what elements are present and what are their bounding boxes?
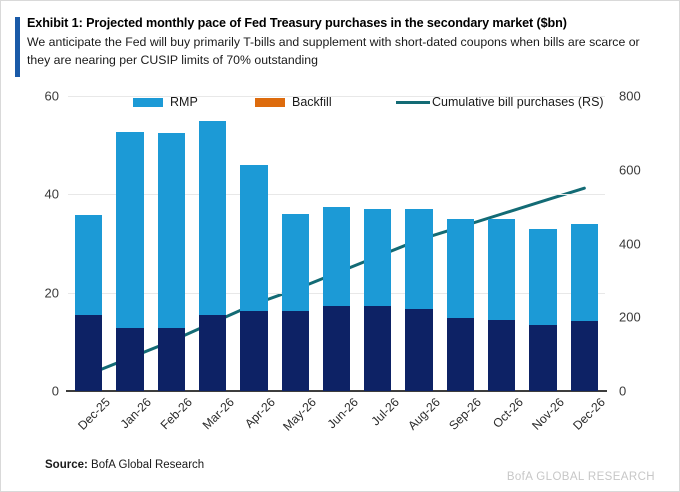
bar-segment[interactable] bbox=[364, 209, 391, 306]
page-title: Exhibit 1: Projected monthly pace of Fed… bbox=[27, 15, 655, 32]
bar-segment[interactable] bbox=[282, 214, 309, 311]
bar-segment[interactable] bbox=[158, 133, 185, 328]
bar-group[interactable] bbox=[405, 96, 432, 391]
bar-group[interactable] bbox=[323, 96, 350, 391]
y2-axis-tick-label: 800 bbox=[619, 89, 641, 104]
bar-segment[interactable] bbox=[405, 209, 432, 309]
bar-group[interactable] bbox=[158, 96, 185, 391]
bar-segment[interactable] bbox=[571, 224, 598, 321]
bar-segment[interactable] bbox=[447, 219, 474, 318]
bar-group[interactable] bbox=[199, 96, 226, 391]
source-note: Source: BofA Global Research bbox=[45, 459, 204, 471]
bar-segment[interactable] bbox=[488, 219, 515, 320]
y-axis-tick-label: 40 bbox=[45, 187, 59, 202]
bar-segment[interactable] bbox=[116, 328, 143, 391]
bar-segment[interactable] bbox=[323, 207, 350, 306]
y2-axis-tick-label: 0 bbox=[619, 384, 626, 399]
watermark: BofA GLOBAL RESEARCH bbox=[507, 471, 655, 483]
plot-area: 02040600200400600800Dec-25Jan-26Feb-26Ma… bbox=[68, 96, 605, 391]
bar-group[interactable] bbox=[571, 96, 598, 391]
y-axis-tick-label: 0 bbox=[52, 384, 59, 399]
bar-segment[interactable] bbox=[323, 306, 350, 391]
bar-group[interactable] bbox=[240, 96, 267, 391]
bar-segment[interactable] bbox=[364, 306, 391, 391]
source-label: Source: bbox=[45, 459, 88, 471]
chart-page: Exhibit 1: Projected monthly pace of Fed… bbox=[0, 0, 680, 492]
bar-segment[interactable] bbox=[529, 229, 556, 325]
bar-group[interactable] bbox=[447, 96, 474, 391]
bar-segment[interactable] bbox=[240, 165, 267, 312]
header-accent-bar bbox=[15, 17, 20, 77]
y-axis-tick-label: 20 bbox=[45, 285, 59, 300]
bar-segment[interactable] bbox=[447, 318, 474, 391]
bar-segment[interactable] bbox=[488, 320, 515, 391]
bar-group[interactable] bbox=[75, 96, 102, 391]
bar-segment[interactable] bbox=[116, 132, 143, 328]
y2-axis-tick-label: 600 bbox=[619, 162, 641, 177]
bar-segment[interactable] bbox=[158, 328, 185, 391]
bar-segment[interactable] bbox=[240, 311, 267, 391]
bar-segment[interactable] bbox=[75, 315, 102, 391]
page-subtitle: We anticipate the Fed will buy primarily… bbox=[27, 34, 647, 69]
bar-segment[interactable] bbox=[405, 309, 432, 391]
bar-segment[interactable] bbox=[529, 325, 556, 391]
bar-group[interactable] bbox=[364, 96, 391, 391]
y2-axis-tick-label: 400 bbox=[619, 236, 641, 251]
y-axis-tick-label: 60 bbox=[45, 89, 59, 104]
y2-axis-tick-label: 200 bbox=[619, 310, 641, 325]
source-text: BofA Global Research bbox=[88, 459, 204, 471]
bar-segment[interactable] bbox=[282, 311, 309, 391]
bar-segment[interactable] bbox=[199, 121, 226, 315]
bar-segment[interactable] bbox=[199, 315, 226, 391]
bar-segment[interactable] bbox=[75, 215, 102, 314]
bar-group[interactable] bbox=[116, 96, 143, 391]
bar-segment[interactable] bbox=[571, 321, 598, 391]
header: Exhibit 1: Projected monthly pace of Fed… bbox=[27, 15, 655, 69]
bar-group[interactable] bbox=[282, 96, 309, 391]
bar-group[interactable] bbox=[529, 96, 556, 391]
bar-group[interactable] bbox=[488, 96, 515, 391]
